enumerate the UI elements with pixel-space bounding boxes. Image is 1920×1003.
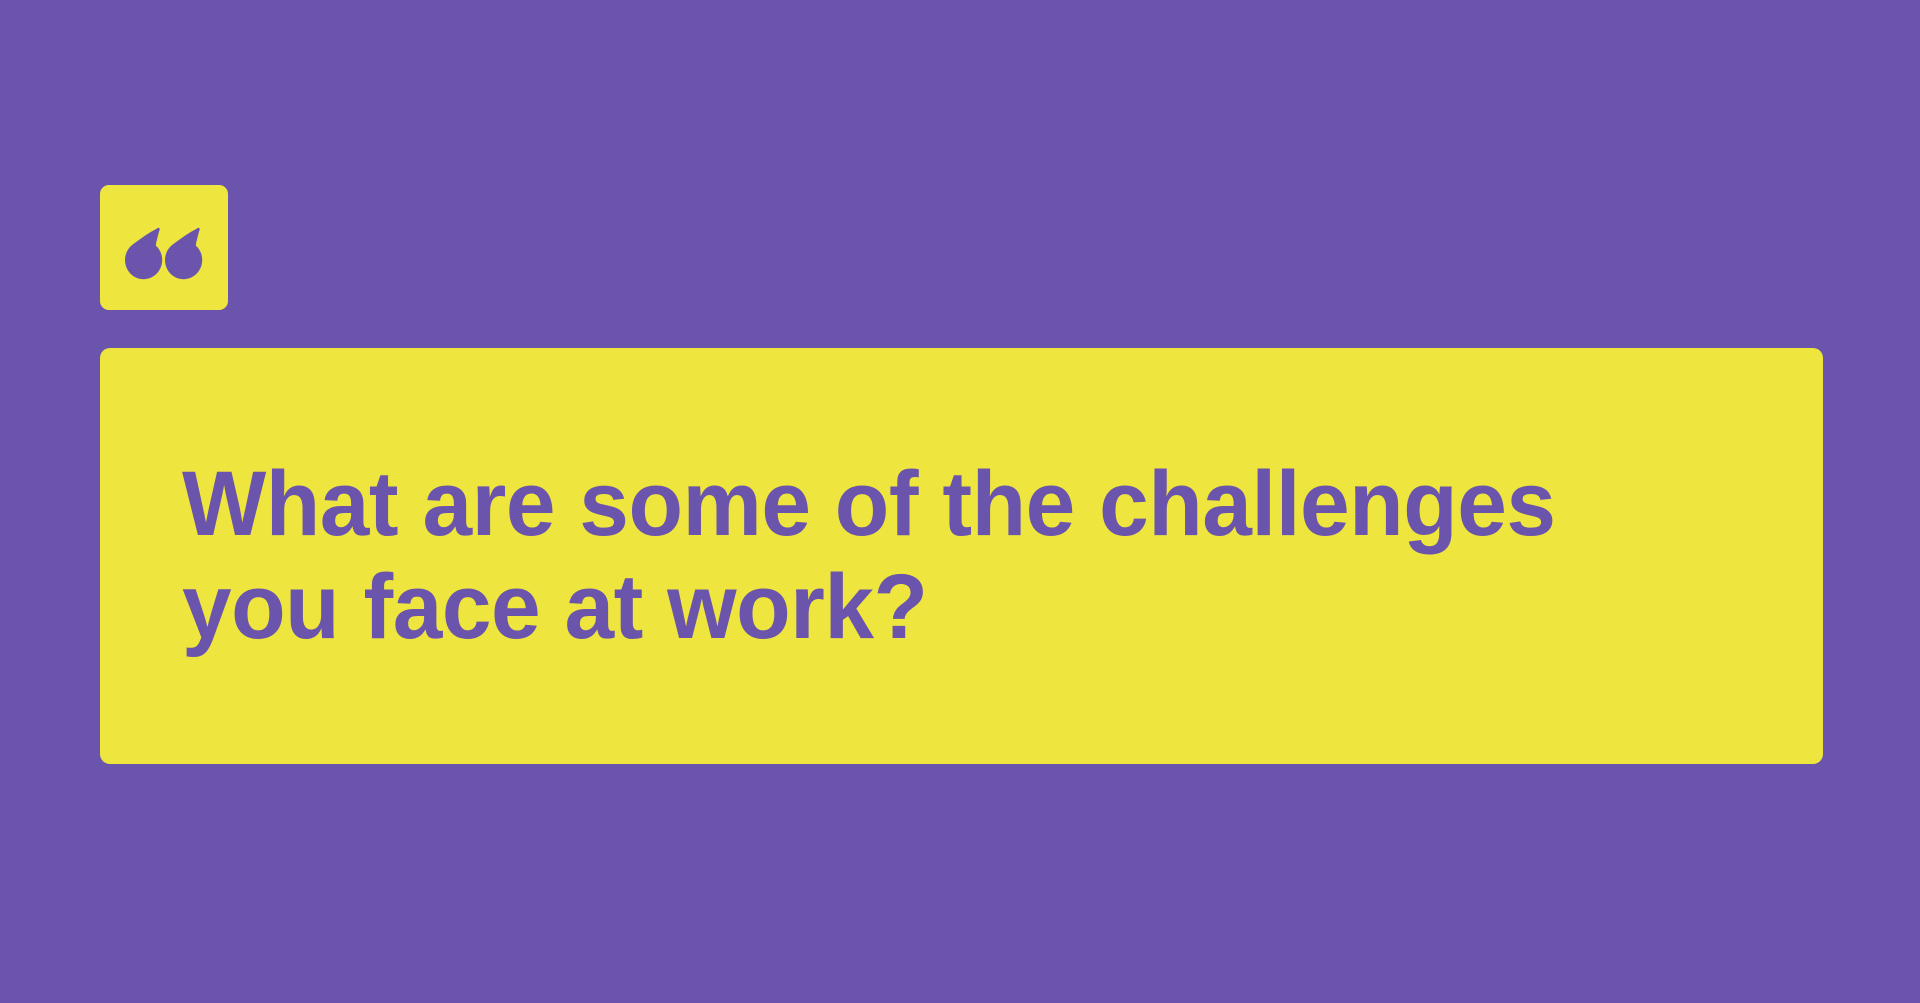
- quote-text: What are some of the challenges you face…: [182, 453, 1694, 659]
- quote-slide: What are some of the challenges you face…: [0, 0, 1920, 1003]
- quote-card: What are some of the challenges you face…: [100, 348, 1823, 764]
- double-quote-open-icon: [123, 226, 205, 288]
- quote-badge: [100, 185, 228, 310]
